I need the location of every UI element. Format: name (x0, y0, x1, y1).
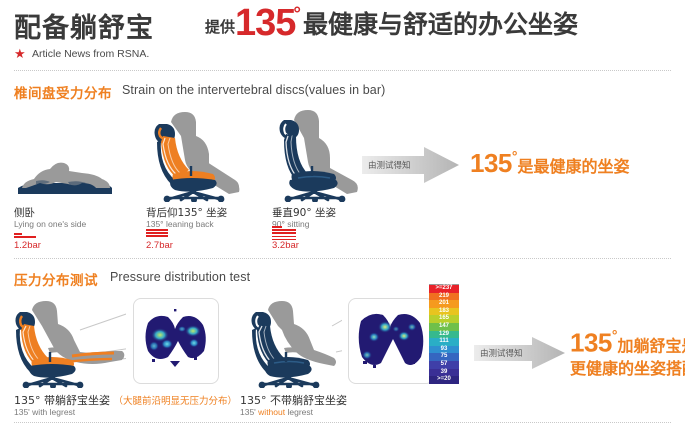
scale-step: 111 (429, 338, 459, 346)
section2-conclusion-degree: ° (612, 327, 618, 343)
divider-footer (14, 422, 671, 423)
pressure-map-with-legrest (134, 299, 216, 381)
panel2-caption-en-b: without (258, 407, 285, 417)
section1-conclusion-degree: ° (512, 148, 518, 164)
panel2-caption-en-c: legrest (285, 407, 313, 417)
section1-title-en: Strain on the intervertebral discs(value… (122, 83, 385, 97)
panel2-caption-en-a: 135' (240, 407, 258, 417)
scale-step: >=20 (429, 376, 459, 384)
figure2-caption-cn: 背后仰135° 坐姿 (146, 205, 227, 220)
scale-step: >=237 (429, 284, 459, 293)
section2-title-cn: 压力分布测试 (14, 269, 98, 289)
test-result-arrow-1-label: 由测试得知 (368, 159, 411, 171)
panel2-caption-en: 135' without legrest (240, 407, 313, 417)
scale-step: 129 (429, 331, 459, 339)
figure1-value-number: 1.2 (14, 240, 27, 251)
test-result-arrow-2-label: 由测试得知 (480, 347, 523, 359)
scale-step: 147 (429, 323, 459, 331)
pressure-map-panel-with-legrest (133, 298, 219, 384)
panel2-caption-main: 135° 不带躺舒宝坐姿 (240, 394, 347, 407)
section2-conclusion-number: 135 (570, 327, 612, 357)
header-subtitle: Article News from RSNA. (32, 48, 149, 60)
panel1-caption-main: 135° 带躺舒宝坐姿 (14, 394, 110, 407)
section1-conclusion-number: 135 (470, 148, 512, 178)
test-result-arrow-1: 由测试得知 (362, 147, 460, 183)
section2-title-en: Pressure distribution test (110, 270, 250, 284)
section2-conclusion-text2: 更健康的坐姿搭配 (570, 359, 685, 378)
panel1-caption-en: 135' with legrest (14, 407, 75, 417)
headline-tail: 最健康与舒适的办公坐姿 (303, 10, 578, 39)
figure1-caption-cn: 侧卧 (14, 205, 35, 220)
section2-conclusion-line1: 135°加躺舒宝是 (570, 330, 685, 357)
scale-step: 165 (429, 315, 459, 323)
chair-upright-90-icon (258, 106, 362, 202)
figure2-value-number: 2.7 (146, 240, 159, 251)
figure1-value-unit: bar (27, 240, 41, 251)
panel2-caption-cn: 135° 不带躺舒宝坐姿 (240, 392, 347, 408)
panel1-caption-cn: 135° 带躺舒宝坐姿 （大腿前沿明显无压力分布） (14, 392, 237, 408)
pressure-map-without-legrest (349, 299, 431, 381)
chair-leaning-back-135-icon (143, 106, 247, 202)
figure3-value-unit: bar (285, 240, 299, 251)
scale-step: 219 (429, 293, 459, 301)
panel1-caption-en-b: with (32, 407, 47, 417)
headline-lead: 提供 (205, 18, 235, 36)
figure1-caption-en: Lying on one's side (14, 219, 86, 229)
scale-step: 57 (429, 361, 459, 369)
poster-root: 配备躺舒宝 提供135°最健康与舒适的办公坐姿 ★ Article News f… (0, 0, 685, 430)
divider-section1 (14, 258, 671, 259)
headline-degree-symbol: ° (293, 4, 301, 25)
figure1-value: 1.2bar (14, 240, 41, 251)
section2-conclusion-line2: 更健康的坐姿搭配 (570, 359, 685, 380)
figure1-bar-indicator (14, 233, 36, 239)
scale-step: 93 (429, 346, 459, 354)
person-lying-on-side-icon (12, 150, 117, 200)
figure3-value-number: 3.2 (272, 240, 285, 251)
figure2-bar-indicator (146, 229, 168, 239)
panel1-caption-note: （大腿前沿明显无压力分布） (114, 396, 238, 407)
figure3-caption-cn: 垂直90° 坐姿 (272, 205, 336, 220)
page-header: 配备躺舒宝 提供135°最健康与舒适的办公坐姿 ★ Article News f… (0, 0, 685, 70)
scale-step: 183 (429, 308, 459, 316)
pressure-color-scale: >=237 219 201 183 165 147 129 111 93 75 … (429, 284, 459, 384)
scale-step: 39 (429, 369, 459, 377)
chair-with-legrest-icon (6, 296, 126, 388)
divider-header (14, 70, 671, 71)
star-icon: ★ (14, 47, 26, 60)
figure2-caption-en: 135° leaning back (146, 219, 214, 229)
header-headline: 提供135°最健康与舒适的办公坐姿 (205, 2, 578, 45)
section1-conclusion: 135°是最健康的坐姿 (470, 148, 630, 179)
scale-step: 201 (429, 300, 459, 308)
scale-step: 75 (429, 353, 459, 361)
section2-conclusion-text1: 加躺舒宝是 (618, 336, 685, 355)
figure3-value: 3.2bar (272, 240, 299, 251)
page-title: 配备躺舒宝 (14, 6, 154, 45)
panel1-caption-en-a: 135' (14, 407, 32, 417)
section1-conclusion-text: 是最健康的坐姿 (518, 157, 630, 176)
pressure-map-panel-without-legrest (348, 298, 434, 384)
section1-title-cn: 椎间盘受力分布 (14, 82, 112, 102)
figure2-value: 2.7bar (146, 240, 173, 251)
figure2-value-unit: bar (159, 240, 173, 251)
headline-angle-number: 135 (235, 2, 295, 44)
test-result-arrow-2: 由测试得知 (474, 337, 566, 369)
chair-without-legrest-icon (238, 296, 342, 388)
section2-conclusion: 135°加躺舒宝是 更健康的坐姿搭配 (570, 330, 685, 380)
panel1-caption-en-c: legrest (47, 407, 75, 417)
